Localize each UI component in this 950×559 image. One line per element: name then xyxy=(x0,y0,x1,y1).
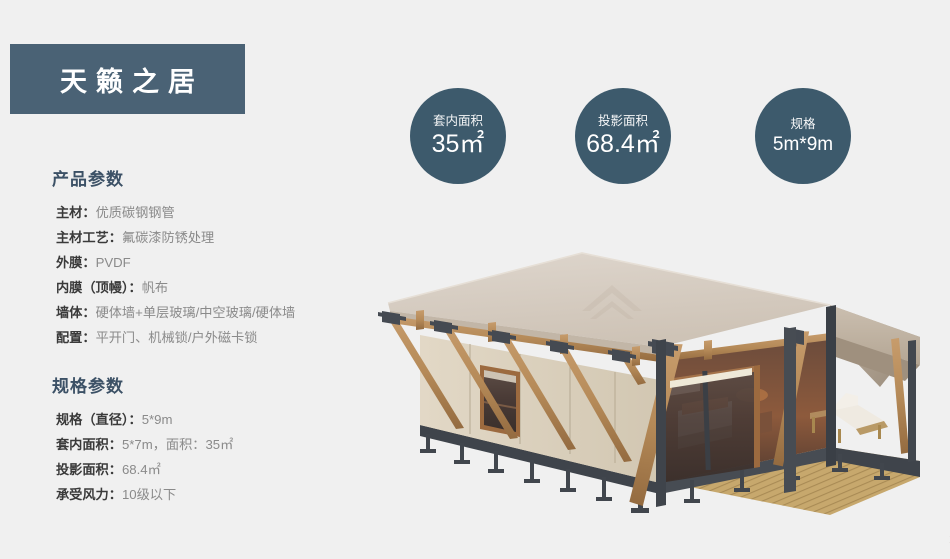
spec-key: 投影面积： xyxy=(56,462,122,477)
stat-badge-label: 投影面积 xyxy=(598,115,648,128)
spec-row: 承受风力：10级以下 xyxy=(56,482,362,507)
spec-row: 投影面积：68.4㎡ xyxy=(56,457,362,482)
spec-key: 规格（直径）： xyxy=(56,412,142,427)
spec-row: 墙体：硬体墙+单层玻璃/中空玻璃/硬体墙 xyxy=(56,300,362,325)
spec-key: 承受风力： xyxy=(56,487,122,502)
spec-params-heading: 规格参数 xyxy=(52,372,362,397)
spec-value: 10级以下 xyxy=(122,487,176,502)
spec-key: 套内面积： xyxy=(56,437,122,452)
specification-panel: 产品参数 主材：优质碳钢钢管 主材工艺：氟碳漆防锈处理 外膜：PVDF 内膜（顶… xyxy=(52,165,362,507)
tent-house-3d-render: 雪利帐篷 XUELI TENT xyxy=(360,215,950,525)
spec-key: 外膜： xyxy=(56,255,96,270)
stat-badge-value: 35㎡ xyxy=(432,132,485,157)
spec-value: PVDF xyxy=(96,255,131,270)
spec-params-list: 规格（直径）：5*9m 套内面积：5*7m，面积：35㎡ 投影面积：68.4㎡ … xyxy=(56,407,362,507)
stat-badge-interior-area: 套内面积 35㎡ xyxy=(410,88,506,184)
spec-value: 5*9m xyxy=(142,412,173,427)
stat-badge-group: 套内面积 35㎡ 投影面积 68.4㎡ 规格 5m*9m xyxy=(410,88,930,188)
page-title: 天籁之居 xyxy=(51,60,204,99)
poster-root: 天籁之居 套内面积 35㎡ 投影面积 68.4㎡ 规格 5m*9m 产品参数 主… xyxy=(0,0,950,534)
spec-key: 墙体： xyxy=(56,305,96,320)
stat-badge-value: 5m*9m xyxy=(773,135,833,154)
product-params-list: 主材：优质碳钢钢管 主材工艺：氟碳漆防锈处理 外膜：PVDF 内膜（顶幔）：帆布… xyxy=(56,200,362,350)
stat-badge-dimensions: 规格 5m*9m xyxy=(755,88,851,184)
spec-key: 主材工艺： xyxy=(56,230,122,245)
spec-value: 帆布 xyxy=(142,280,168,295)
spec-value: 优质碳钢钢管 xyxy=(96,205,175,220)
stat-badge-projected-area: 投影面积 68.4㎡ xyxy=(575,88,671,184)
spec-row: 配置：平开门、机械锁/户外磁卡锁 xyxy=(56,325,362,350)
spec-row: 主材：优质碳钢钢管 xyxy=(56,200,362,225)
spec-row: 主材工艺：氟碳漆防锈处理 xyxy=(56,225,362,250)
spec-row: 规格（直径）：5*9m xyxy=(56,407,362,432)
spec-row: 内膜（顶幔）：帆布 xyxy=(56,275,362,300)
spec-row: 外膜：PVDF xyxy=(56,250,362,275)
spec-key: 内膜（顶幔）： xyxy=(56,280,142,295)
title-banner: 天籁之居 xyxy=(10,44,245,114)
spec-row: 套内面积：5*7m，面积：35㎡ xyxy=(56,432,362,457)
product-params-heading: 产品参数 xyxy=(52,165,362,190)
stat-badge-value: 68.4㎡ xyxy=(586,132,660,157)
spec-value: 氟碳漆防锈处理 xyxy=(122,230,214,245)
stat-badge-label: 套内面积 xyxy=(433,115,483,128)
spec-value: 平开门、机械锁/户外磁卡锁 xyxy=(96,330,258,345)
wall-window xyxy=(480,365,520,437)
spec-key: 配置： xyxy=(56,330,96,345)
spec-value: 硬体墙+单层玻璃/中空玻璃/硬体墙 xyxy=(96,305,296,320)
stat-badge-label: 规格 xyxy=(790,118,815,131)
spec-key: 主材： xyxy=(56,205,96,220)
spec-value: 5*7m，面积：35㎡ xyxy=(122,437,233,452)
spec-value: 68.4㎡ xyxy=(122,462,161,477)
